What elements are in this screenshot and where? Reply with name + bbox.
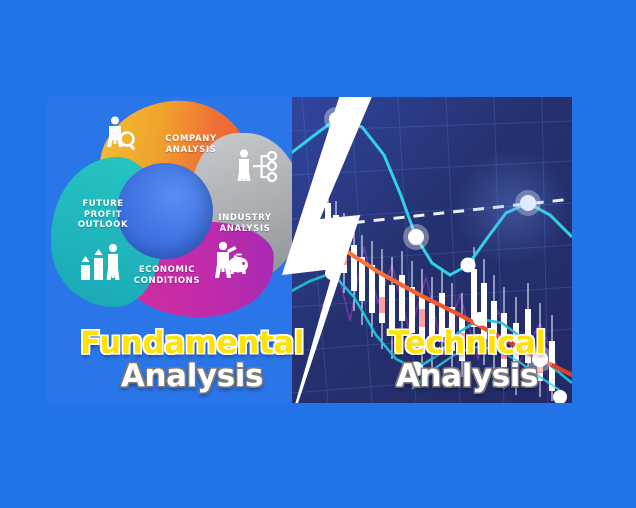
fundamental-title-line1: Fundamental bbox=[61, 329, 323, 359]
technical-analysis-title: Technical Analysis bbox=[367, 329, 567, 392]
fundamental-donut-chart: COMPANY ANALYSIS INDUSTRY ANALYSIS ECONO… bbox=[51, 101, 281, 316]
fundamental-analysis-title: Fundamental Analysis bbox=[61, 329, 323, 392]
fundamental-title-line2: Analysis bbox=[61, 362, 323, 392]
screenshot-root: COMPANY ANALYSIS INDUSTRY ANALYSIS ECONO… bbox=[0, 0, 636, 508]
infographic-banner: COMPANY ANALYSIS INDUSTRY ANALYSIS ECONO… bbox=[47, 97, 572, 403]
donut-center-hole bbox=[117, 163, 213, 259]
technical-title-line1: Technical bbox=[367, 329, 567, 359]
technical-title-line2: Analysis bbox=[367, 362, 567, 392]
